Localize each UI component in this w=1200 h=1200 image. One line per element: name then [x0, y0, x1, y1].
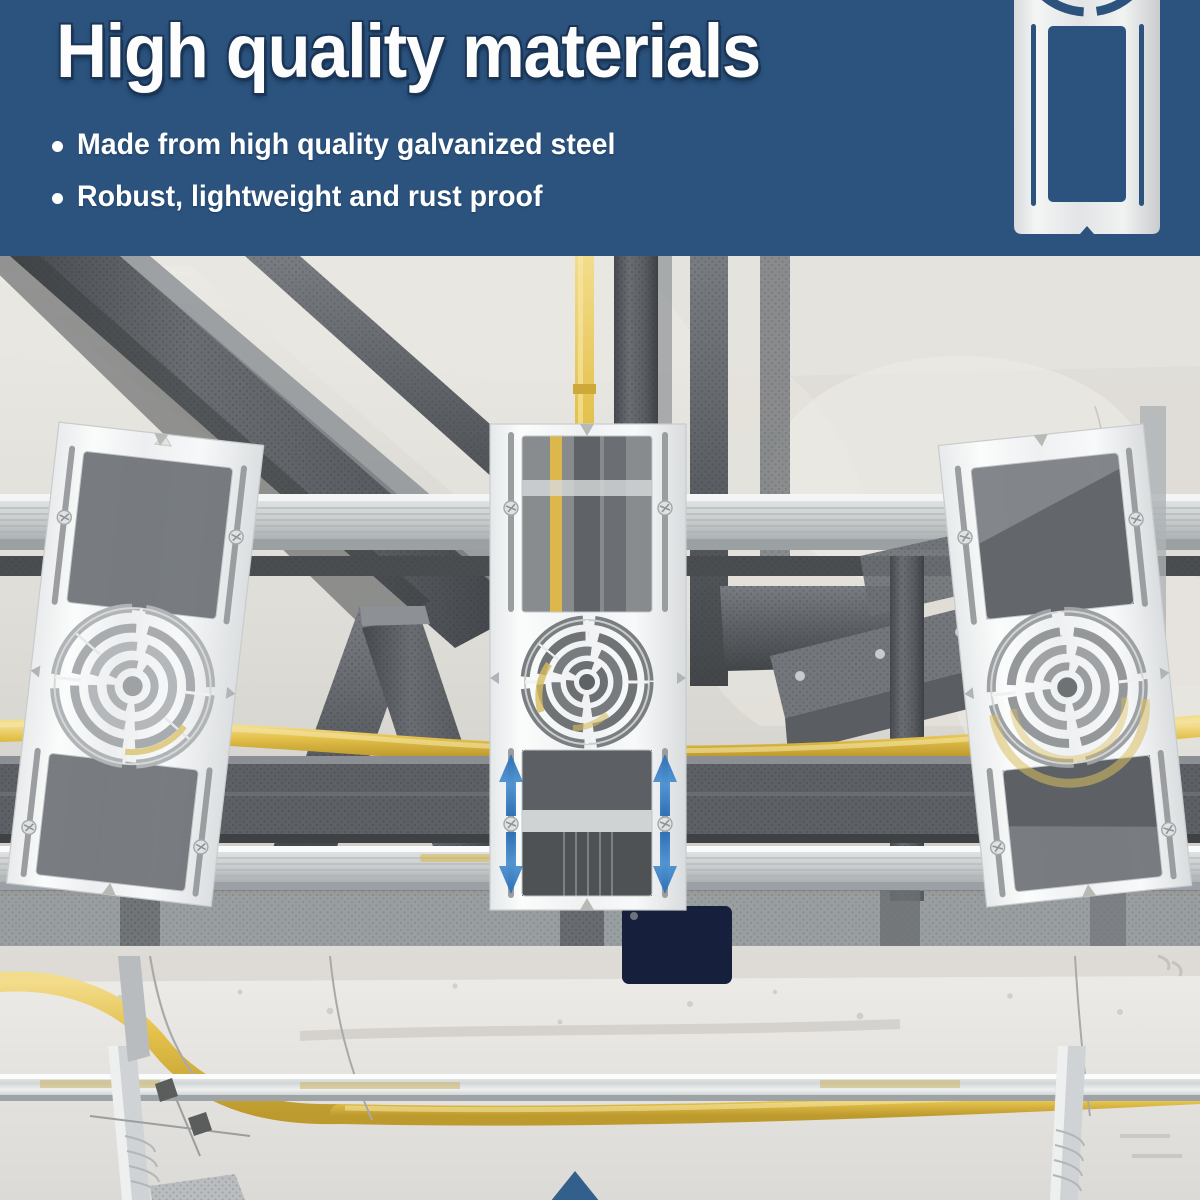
mounting-plate-center — [472, 420, 702, 920]
bullet-label: Made from high quality galvanized steel — [77, 126, 615, 164]
bullet-dot-icon — [52, 141, 63, 152]
product-infographic: Alignment notches help to align multiple… — [0, 0, 1200, 1200]
list-item: Robust, lightweight and rust proof — [52, 178, 872, 216]
mounting-plate-left — [0, 416, 310, 916]
concentric-knockout-rings — [525, 620, 649, 744]
mounting-plate-right — [900, 416, 1200, 916]
page-title: High quality materials — [56, 14, 760, 90]
feature-bullet-list: Made from high quality galvanized steel … — [52, 126, 872, 229]
callout-pointer — [546, 1171, 604, 1200]
bullet-label: Robust, lightweight and rust proof — [77, 178, 542, 216]
mounting-plate-icon — [996, 0, 1178, 238]
list-item: Made from high quality galvanized steel — [52, 126, 872, 164]
header-banner: High quality materials Made from high qu… — [0, 0, 1200, 256]
bullet-dot-icon — [52, 193, 63, 204]
product-photo: Alignment notches help to align multiple… — [0, 256, 1200, 1200]
